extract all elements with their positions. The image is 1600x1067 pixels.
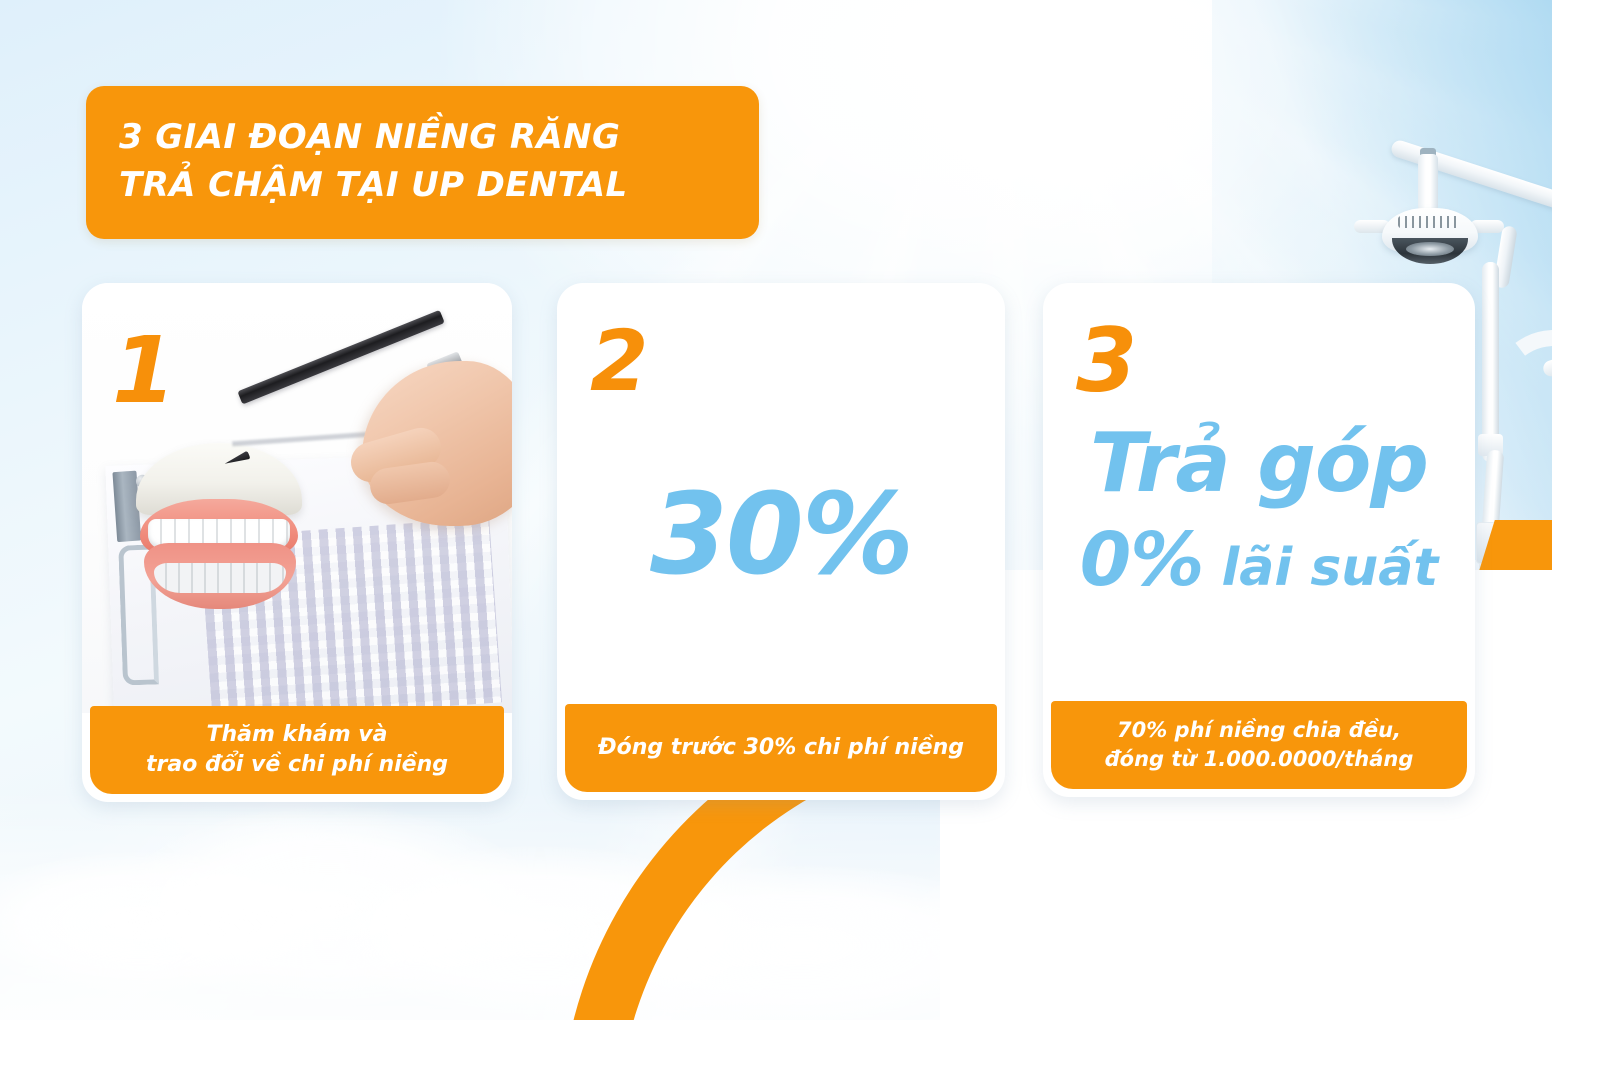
step-number-1: 1 — [112, 325, 176, 417]
step-card-3[interactable]: 3 Trả góp 0% lãi suất 70% phí niềng chia… — [1043, 283, 1475, 797]
step-3-headline-line2: 0% lãi suất — [1043, 523, 1475, 597]
bottom-white-margin — [0, 1022, 1600, 1067]
lamp-vents — [1398, 216, 1460, 228]
header-banner: 3 GIAI ĐOẠN NIỀNG RĂNG TRẢ CHẬM TẠI UP D… — [86, 86, 759, 239]
step-2-stat: 30% — [557, 479, 1005, 591]
step-3-caption: 70% phí niềng chia đều, đóng từ 1.000.00… — [1051, 701, 1467, 789]
lamp-post-upper — [1482, 262, 1499, 462]
lamp-lens — [1392, 238, 1468, 264]
step-3-interest-label: lãi suất — [1203, 538, 1438, 598]
lower-teeth — [154, 563, 286, 593]
lamp-stem — [1418, 154, 1438, 212]
teeth-model-icon — [128, 443, 318, 618]
step-number-3: 3 — [1076, 317, 1137, 405]
step-card-1[interactable]: 1 Thăm khám và trao đổi về chi phí niềng — [82, 283, 512, 802]
infographic-stage: 3 GIAI ĐOẠN NIỀNG RĂNG TRẢ CHẬM TẠI UP D… — [0, 0, 1600, 1067]
step-2-caption: Đóng trước 30% chi phí niềng — [565, 704, 997, 792]
step-3-zero-percent: 0% — [1080, 517, 1204, 603]
page-title: 3 GIAI ĐOẠN NIỀNG RĂNG TRẢ CHẬM TẠI UP D… — [119, 113, 628, 209]
right-white-margin — [1552, 0, 1600, 1022]
step-number-2: 2 — [590, 319, 648, 403]
step-1-caption: Thăm khám và trao đổi về chi phí niềng — [90, 706, 504, 794]
step-3-headline-line1: Trả góp — [1043, 423, 1475, 505]
step-card-2[interactable]: 2 30% Đóng trước 30% chi phí niềng — [557, 283, 1005, 800]
